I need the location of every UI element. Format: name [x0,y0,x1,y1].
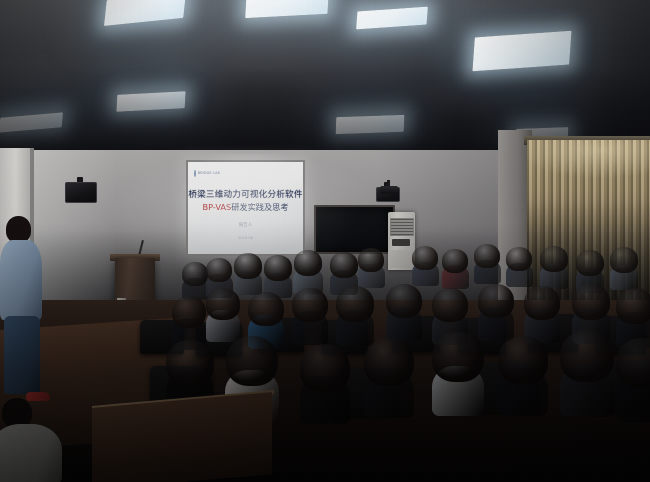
attendee-head [540,246,568,272]
standing-attendee-legs [4,316,40,394]
blackboard [314,205,395,254]
attendee-head [478,284,514,318]
air-conditioner-body [390,250,412,268]
attendee-head [442,249,468,273]
attendee-head [300,344,350,392]
attendee-head [524,286,560,320]
slide-title-line2: BP-VAS研发实践及思考 [188,203,303,211]
attendee-head [234,253,262,279]
attendee-head [292,288,328,322]
attendee-head [616,288,650,324]
air-conditioner-display [392,239,410,246]
attendee-head [264,255,292,281]
standing-attendee-head [6,216,31,243]
slide-date: 2018.06 [188,236,303,240]
attendee-head [610,247,638,273]
attendee-head [432,332,484,382]
slide-title-line1: 桥梁三维动力可视化分析软件 [188,191,303,200]
attendee-head [248,292,284,326]
attendee-head [474,244,500,268]
attendee-head [386,284,422,318]
attendee-head [576,250,604,276]
attendee-head [226,336,278,386]
attendee-head [206,288,240,320]
standing-attendee-shoe [26,392,50,401]
standing-attendee-torso [0,240,42,320]
slide-logo-text: BRIDGE LAB [198,171,220,175]
wall-speaker-left [65,182,97,203]
attendee-head [206,258,232,282]
seat-row-divider [92,392,272,482]
attendee-head [498,336,548,384]
slide-subtitle: 报告人 [188,222,303,228]
attendee-head [182,262,208,286]
attendee-head [358,248,384,272]
projection-screen: BRIDGE LAB 桥梁三维动力可视化分析软件 BP-VAS研发实践及思考 报… [188,162,303,254]
attendee-head [172,296,206,328]
attendee-head [166,340,214,386]
air-conditioner-vent-icon [390,218,414,236]
attendee-head [616,338,650,388]
attendee-head [412,246,438,270]
lecture-hall-photo: BRIDGE LAB 桥梁三维动力可视化分析软件 BP-VAS研发实践及思考 报… [0,0,650,482]
blackboard-glare [316,207,393,252]
attendee-head [330,252,358,278]
attendee-head [506,247,532,271]
air-conditioner[interactable] [388,212,415,270]
attendee-head [364,338,414,386]
foreground-attendee-left-torso [0,424,62,482]
slide-title-highlight: BP-VAS [202,202,231,212]
attendee-head [572,284,610,320]
slide-logo-mark-icon [194,170,196,177]
slide-title-rest: 研发实践及思考 [231,202,288,212]
attendee-head [294,250,322,276]
slide-logo: BRIDGE LAB [194,169,220,177]
ceiling-projector [380,186,398,194]
attendee-head [336,286,374,322]
attendee-head [432,288,468,322]
attendee-head [560,330,614,382]
